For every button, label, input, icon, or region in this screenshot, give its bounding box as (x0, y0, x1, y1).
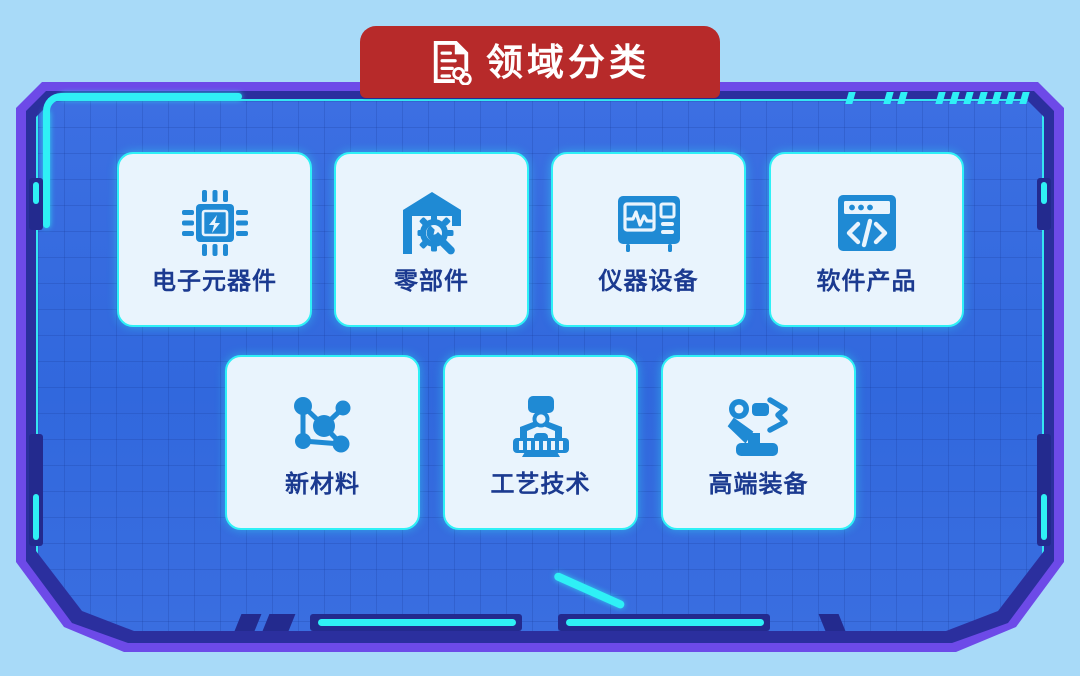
press-machine-icon (504, 389, 578, 463)
tick-mark (883, 92, 893, 104)
category-card-process-technology[interactable]: 工艺技术 (443, 355, 638, 530)
notch-beam (33, 182, 39, 204)
tick-mark (977, 92, 987, 104)
category-card-high-end-equipment[interactable]: 高端装备 (661, 355, 856, 530)
right-edge-notch (1037, 178, 1051, 230)
card-label: 新材料 (285, 473, 360, 497)
right-edge-notch (1037, 434, 1051, 546)
code-window-icon (830, 186, 904, 260)
tick-mark (949, 92, 959, 104)
category-card-electronic-components[interactable]: 电子元器件 (117, 152, 312, 327)
page-title-banner: 领域分类 (360, 26, 720, 98)
top-left-rail (60, 93, 242, 100)
tick-mark (963, 92, 973, 104)
document-search-icon (430, 39, 472, 85)
card-label: 软件产品 (817, 270, 917, 294)
bottom-left-bar (310, 614, 522, 631)
bar-beam (318, 619, 516, 626)
tick-mark (897, 92, 907, 104)
category-card-new-materials[interactable]: 新材料 (225, 355, 420, 530)
molecule-network-icon (286, 389, 360, 463)
robot-arm-icon (722, 389, 796, 463)
category-card-software-products[interactable]: 软件产品 (769, 152, 964, 327)
left-edge-notch (29, 178, 43, 230)
card-label: 工艺技术 (491, 473, 591, 497)
card-label: 零部件 (394, 270, 469, 294)
bottom-right-bar (558, 614, 770, 631)
tick-mark (991, 92, 1001, 104)
tick-mark (845, 92, 855, 104)
bar-beam (566, 619, 764, 626)
corner-tick-marks (847, 92, 1028, 104)
tick-mark (1005, 92, 1015, 104)
notch-beam (1041, 182, 1047, 204)
left-edge-notch (29, 434, 43, 546)
chip-bolt-icon (178, 186, 252, 260)
card-label: 电子元器件 (152, 270, 277, 294)
notch-beam (33, 494, 39, 540)
instrument-monitor-icon (612, 186, 686, 260)
left-rail (43, 110, 50, 228)
card-label: 高端装备 (709, 473, 809, 497)
warehouse-gear-wrench-icon (395, 186, 469, 260)
notch-beam (1041, 494, 1047, 540)
card-label: 仪器设备 (599, 270, 699, 294)
category-card-instruments[interactable]: 仪器设备 (551, 152, 746, 327)
tick-mark (935, 92, 945, 104)
page-title: 领域分类 (486, 44, 650, 81)
category-card-spare-parts[interactable]: 零部件 (334, 152, 529, 327)
